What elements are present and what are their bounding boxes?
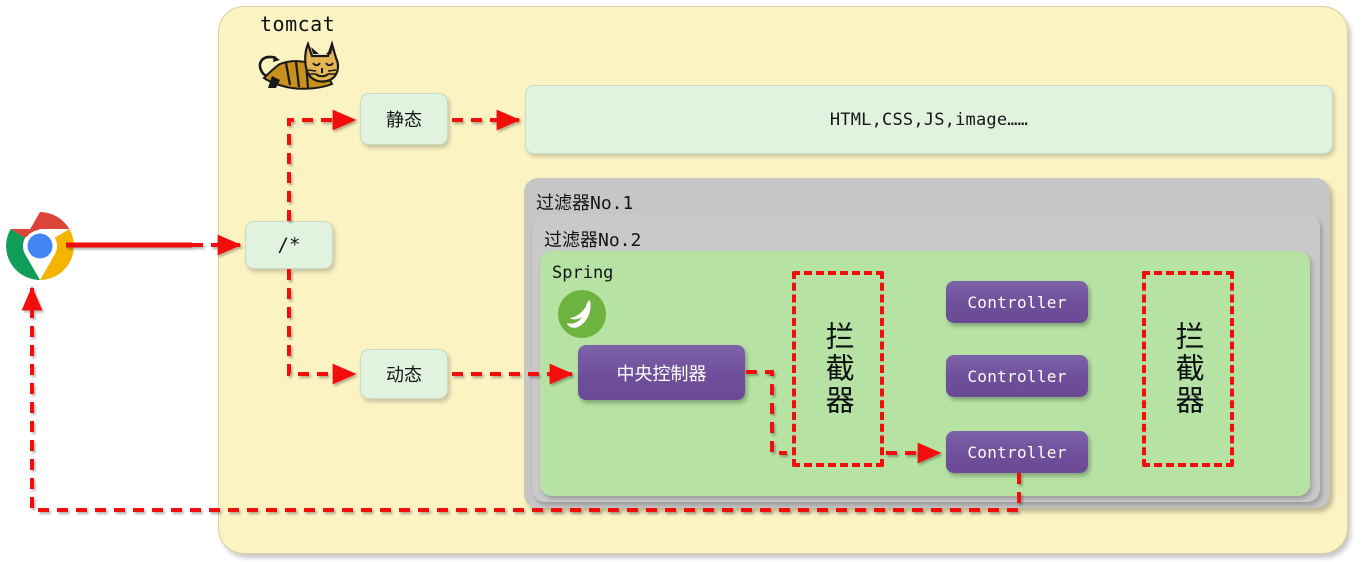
chrome-logo: [4, 210, 76, 282]
url-pattern-box[interactable]: /*: [245, 221, 333, 269]
controller-box-3[interactable]: Controller: [946, 431, 1088, 473]
controller-label-1: Controller: [967, 293, 1066, 312]
diagram-canvas: tomcat HTML,CSS,JS,image…… 过滤器No.1 过: [0, 0, 1364, 562]
static-resources-label: HTML,CSS,JS,image……: [830, 110, 1028, 130]
dispatcher-servlet-label: 中央控制器: [617, 360, 707, 386]
filter-no2-label: 过滤器No.2: [544, 226, 641, 252]
interceptor-label-1: 拦截器: [821, 321, 855, 417]
interceptor-box-2: 拦截器: [1142, 271, 1234, 467]
dynamic-route-box[interactable]: 动态: [360, 349, 448, 399]
static-resources-box: HTML,CSS,JS,image……: [525, 85, 1333, 154]
filter-no1-label: 过滤器No.1: [536, 189, 633, 215]
url-pattern-label: /*: [278, 234, 301, 256]
tomcat-label: tomcat: [260, 12, 335, 36]
dynamic-route-label: 动态: [386, 361, 422, 387]
controller-box-2[interactable]: Controller: [946, 355, 1088, 397]
interceptor-label-2: 拦截器: [1171, 321, 1205, 417]
dispatcher-servlet-box[interactable]: 中央控制器: [578, 345, 745, 400]
tomcat-cat-logo: [250, 38, 342, 100]
spring-leaf-logo: [557, 289, 607, 339]
static-route-box[interactable]: 静态: [360, 93, 448, 145]
controller-box-1[interactable]: Controller: [946, 281, 1088, 323]
spring-label: Spring: [552, 263, 613, 283]
controller-label-3: Controller: [967, 443, 1066, 462]
interceptor-box-1: 拦截器: [792, 271, 884, 467]
static-route-label: 静态: [386, 106, 422, 132]
controller-label-2: Controller: [967, 367, 1066, 386]
